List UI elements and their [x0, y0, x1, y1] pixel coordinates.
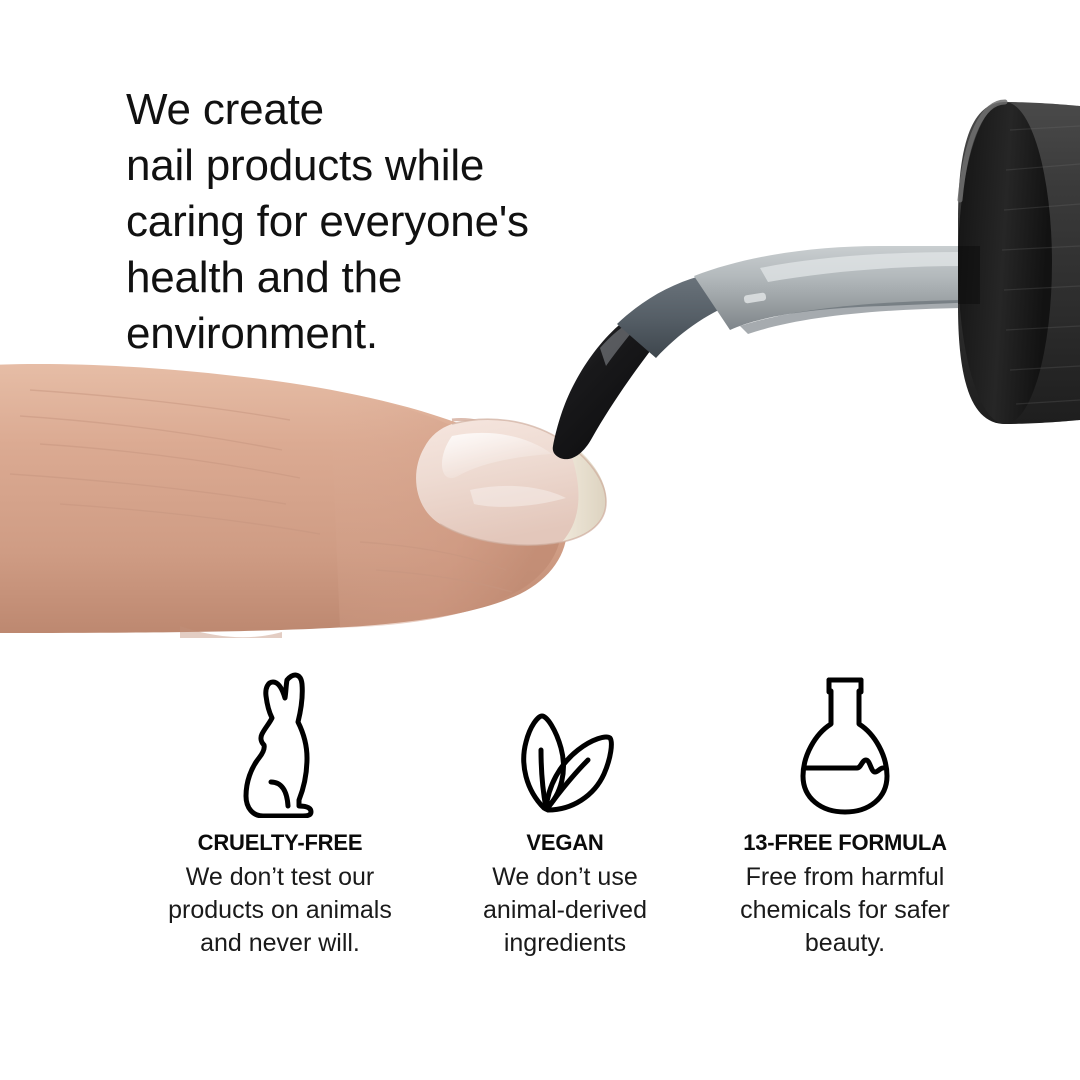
feature-icon-wrapper	[795, 668, 895, 818]
feature-title: 13-FREE FORMULA	[743, 830, 947, 856]
rabbit-icon	[241, 666, 319, 818]
flask-icon	[795, 672, 895, 818]
feature-title: VEGAN	[526, 830, 603, 856]
feature-description: Free from harmful chemicals for safer be…	[740, 861, 950, 960]
bottle-cap	[958, 102, 1080, 424]
page-headline: We create nail products while caring for…	[126, 82, 686, 362]
feature-icon-wrapper	[241, 668, 319, 818]
feature-description: We don’t use animal-derived ingredients	[483, 861, 647, 960]
feature-row: CRUELTY-FREE We don’t test our products …	[130, 668, 990, 998]
feature-vegan: VEGAN We don’t use animal-derived ingred…	[458, 668, 673, 960]
feature-13-free: 13-FREE FORMULA Free from harmful chemic…	[700, 668, 990, 960]
promo-canvas: We create nail products while caring for…	[0, 0, 1080, 1080]
feature-title: CRUELTY-FREE	[198, 830, 363, 856]
leaves-icon	[512, 708, 618, 818]
feature-description: We don’t test our products on animals an…	[168, 861, 392, 960]
feature-icon-wrapper	[512, 668, 618, 818]
feature-cruelty-free: CRUELTY-FREE We don’t test our products …	[130, 668, 430, 960]
cap-shaft-shadow	[958, 246, 980, 304]
